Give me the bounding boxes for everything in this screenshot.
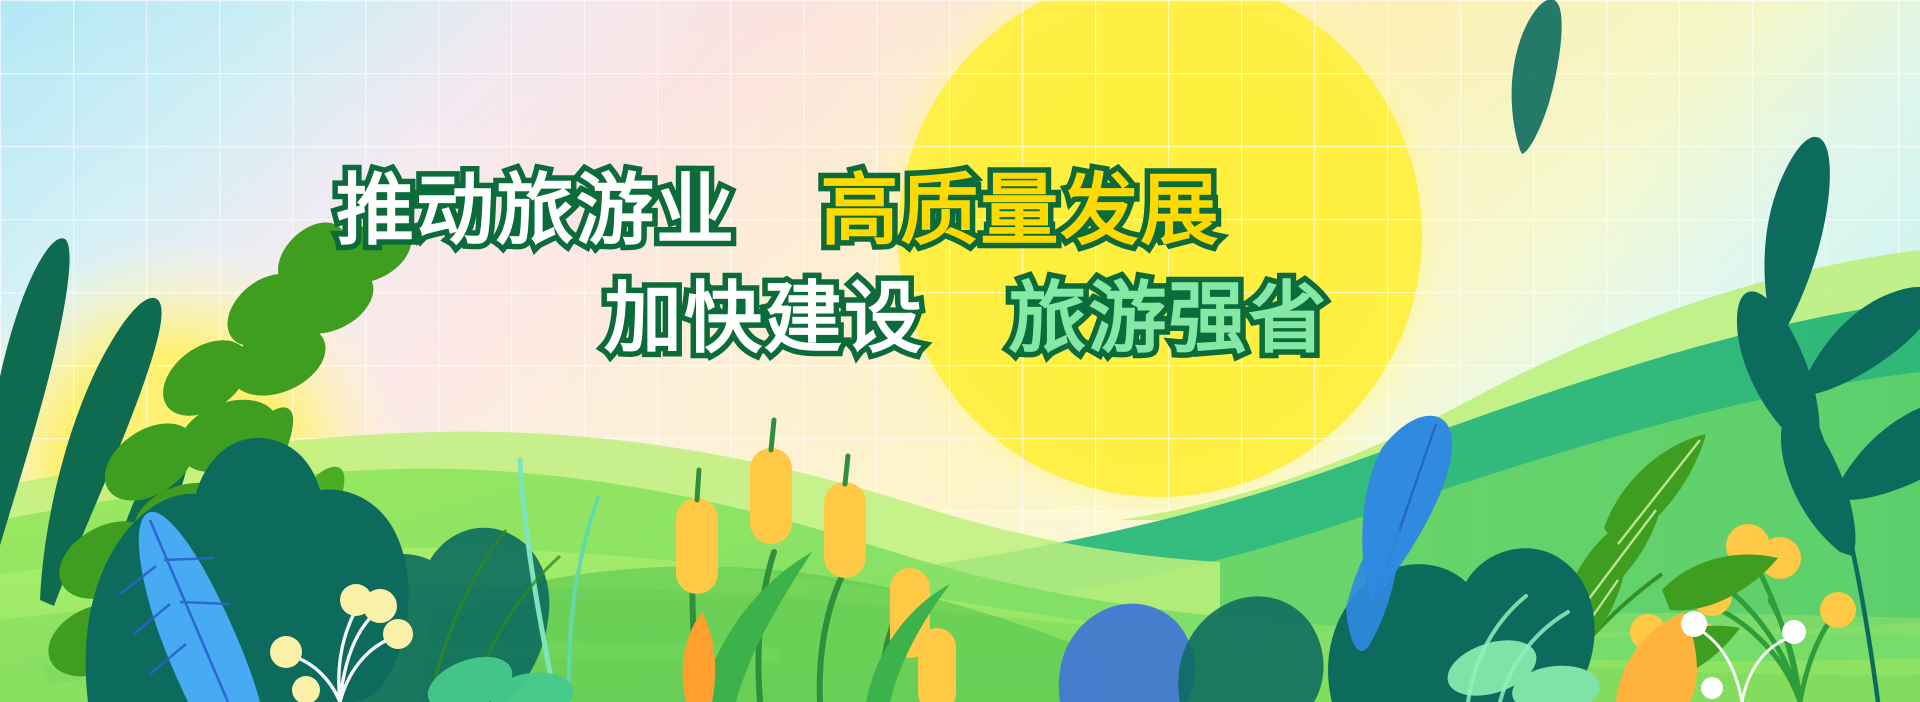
tourism-promo-banner: 推动旅游业 推动旅游业 高质量发展 高质量发展 加快建设 加快建设 旅游强省 旅…: [0, 0, 1920, 702]
cattail-head: [676, 498, 718, 594]
banner-illustration: [0, 0, 1920, 702]
